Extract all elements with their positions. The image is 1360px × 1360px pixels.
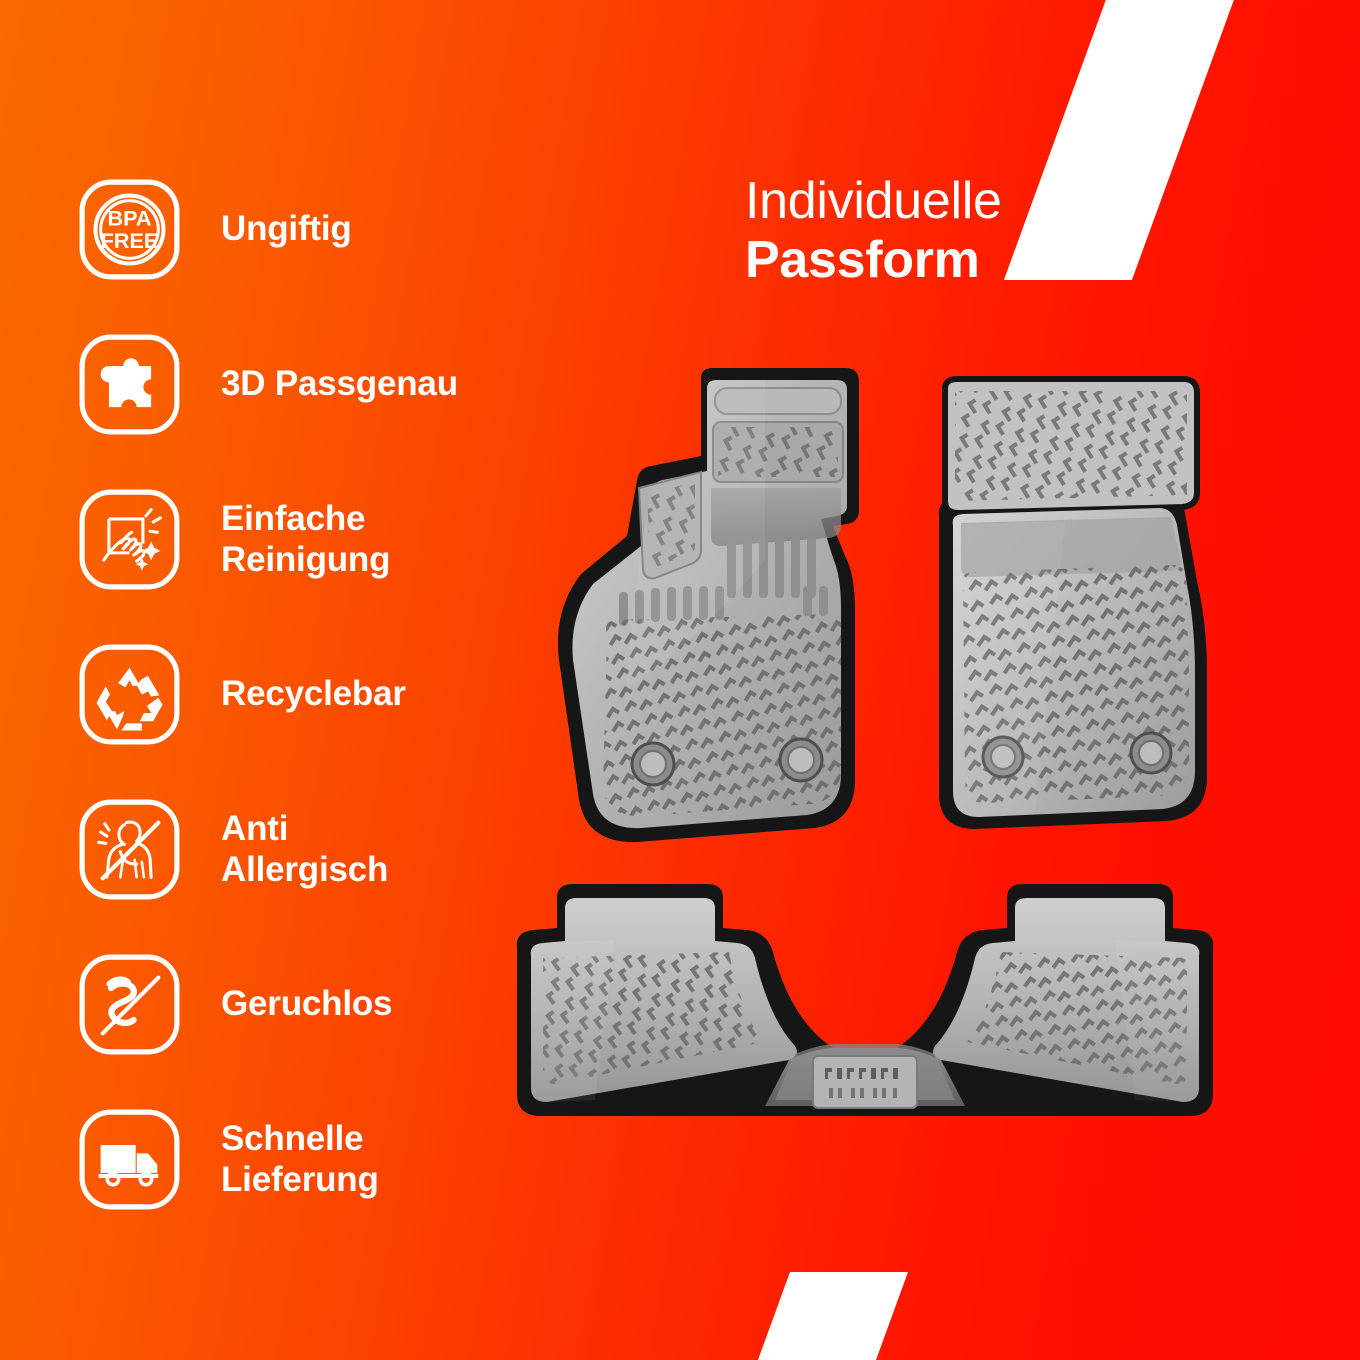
recycling-icon [78, 643, 181, 746]
feature-label: Recyclebar [221, 674, 406, 715]
feature-item-ungiftig: BPA FREE Ungiftig [78, 152, 508, 307]
bpa-badge-top: BPA [107, 205, 151, 230]
feature-item-schnelle-lieferung: Schnelle Lieferung [78, 1082, 508, 1237]
odorless-icon [78, 953, 181, 1056]
feature-label: Geruchlos [221, 984, 392, 1025]
feature-label: Schnelle Lieferung [221, 1119, 379, 1200]
feature-item-einfache-reinigung: Einfache Reinigung [78, 462, 508, 617]
driver-floor-mat [515, 360, 885, 850]
decorative-stripe-top [1004, 0, 1236, 280]
puzzle-piece-icon [78, 333, 181, 436]
easy-cleaning-icon [78, 488, 181, 591]
feature-label: 3D Passgenau [221, 364, 458, 405]
feature-item-3d-passgenau: 3D Passgenau [78, 307, 508, 462]
headline-line-1: Individuelle [745, 172, 1002, 231]
page-title: Individuelle Passform [745, 172, 1002, 290]
passenger-floor-mat [915, 373, 1245, 843]
feature-item-anti-allergisch: Anti Allergisch [78, 772, 508, 927]
bpa-free-icon: BPA FREE [78, 178, 181, 281]
feature-item-geruchlos: Geruchlos [78, 927, 508, 1082]
feature-item-recyclebar: Recyclebar [78, 617, 508, 772]
feature-label: Ungiftig [221, 209, 352, 250]
delivery-truck-icon [78, 1108, 181, 1211]
rear-floor-mat [495, 870, 1235, 1150]
feature-label: Einfache Reinigung [221, 499, 390, 580]
feature-list: BPA FREE Ungiftig 3D Passgenau [78, 152, 508, 1237]
product-feature-banner: Individuelle Passform BPA FREE Ungiftig [0, 0, 1360, 1360]
bpa-badge-bottom: FREE [101, 228, 159, 253]
feature-label: Anti Allergisch [221, 809, 388, 890]
decorative-stripe-bottom [754, 1272, 908, 1360]
headline-line-2: Passform [745, 231, 1002, 290]
product-image-group [495, 355, 1265, 1155]
anti-allergy-icon [78, 798, 181, 901]
